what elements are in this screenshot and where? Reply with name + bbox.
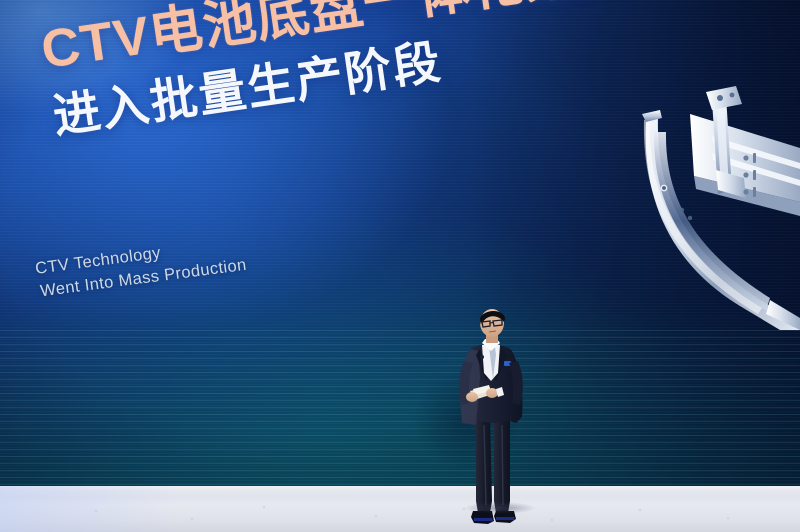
speaker-floor-shadow <box>452 500 548 516</box>
stage-scene: CTV电池底盘一体化集成技术 进入批量生产阶段 CTV Technology W… <box>0 0 800 532</box>
keynote-presenter <box>440 305 550 532</box>
stage-floor <box>0 486 800 532</box>
stage-floor-left-glow <box>0 486 180 532</box>
battery-chassis-frame-graphic <box>620 70 800 330</box>
